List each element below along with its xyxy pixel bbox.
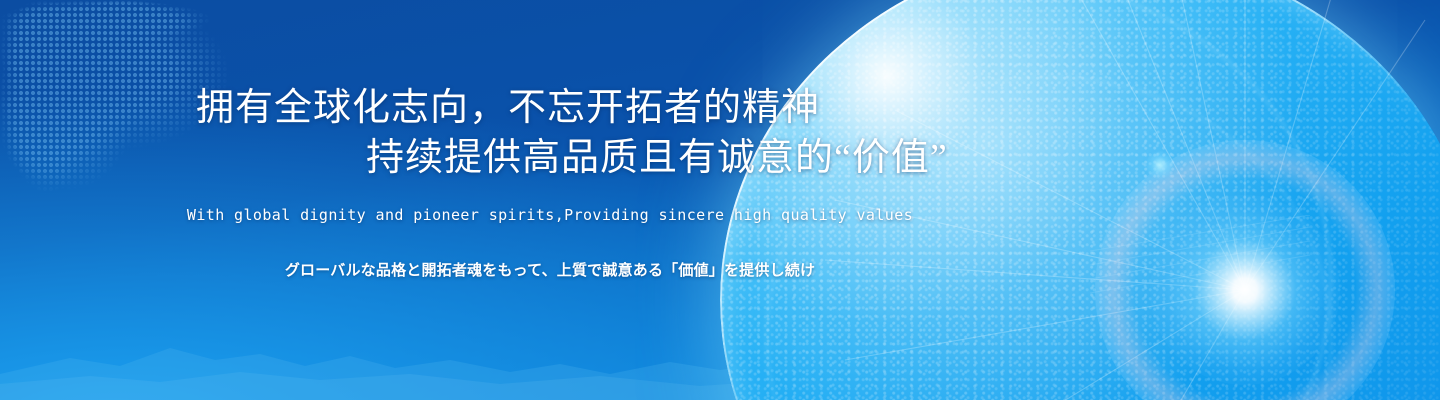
headline-line-1: 拥有全球化志向，不忘开拓者的精神 xyxy=(0,86,1100,130)
subtitle-japanese: グローバルな品格と開拓者魂をもって、上質で誠意ある「価値」を提供し続け xyxy=(0,259,1210,280)
page-title: 拥有全球化志向，不忘开拓者的精神 持续提供高品质且有诚意的“价值” xyxy=(0,86,1100,180)
lens-flare-dot xyxy=(1146,151,1174,179)
subtitle-english: With global dignity and pioneer spirits,… xyxy=(0,206,1234,224)
banner-text-block: 拥有全球化志向，不忘开拓者的精神 持续提供高品质且有诚意的“价值” With g… xyxy=(0,0,1100,400)
headline-line-2: 持续提供高品质且有诚意的“价值” xyxy=(0,136,1100,180)
hero-banner: 拥有全球化志向，不忘开拓者的精神 持续提供高品质且有诚意的“价值” With g… xyxy=(0,0,1440,400)
